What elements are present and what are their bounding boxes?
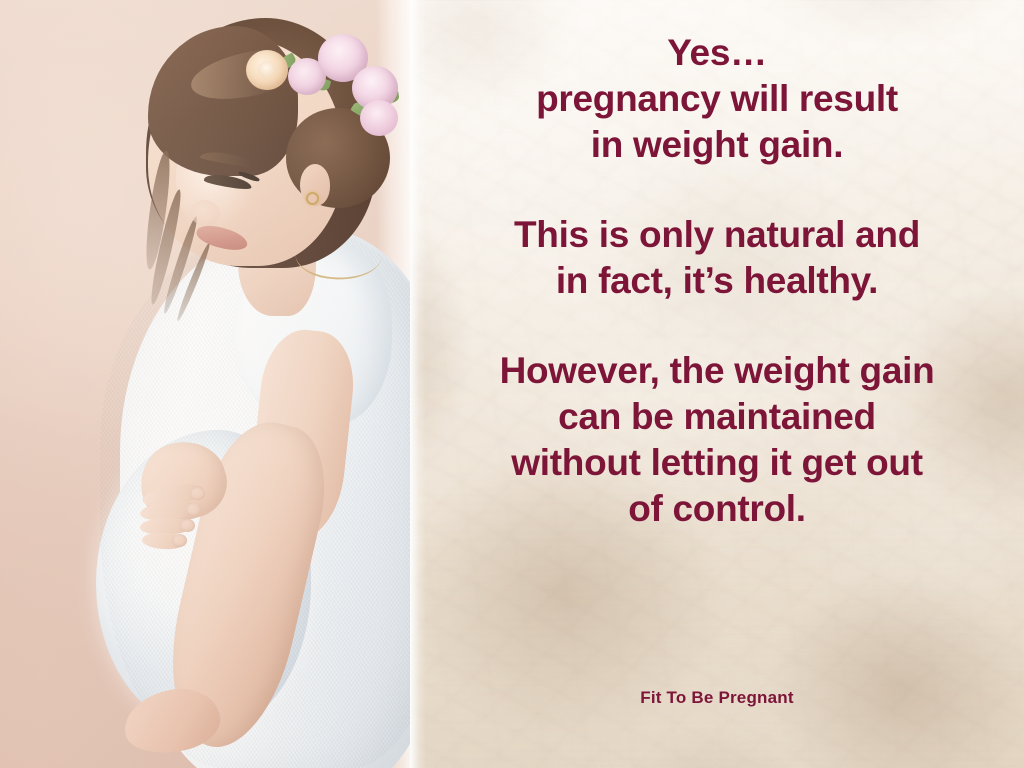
rose-flower-pink	[360, 100, 398, 136]
fingernail	[186, 503, 201, 516]
quote-line: in fact, it’s healthy.	[428, 258, 1006, 304]
quote-text-block: Yes… pregnancy will result in weight gai…	[410, 0, 1024, 532]
quote-line: Yes…	[428, 30, 1006, 76]
quote-line: can be maintained	[428, 394, 1006, 440]
quote-poster: Yes… pregnancy will result in weight gai…	[0, 0, 1024, 768]
fingernail	[190, 487, 205, 500]
text-pane: Yes… pregnancy will result in weight gai…	[410, 0, 1024, 768]
quote-paragraph-2: This is only natural and in fact, it’s h…	[428, 212, 1006, 304]
quote-line: This is only natural and	[428, 212, 1006, 258]
photo-pane	[0, 0, 410, 768]
attribution-text: Fit To Be Pregnant	[410, 688, 1024, 708]
quote-paragraph-1: Yes… pregnancy will result in weight gai…	[428, 30, 1006, 168]
rose-flower-core	[258, 61, 276, 78]
fingernail	[180, 519, 195, 532]
earring-icon	[306, 192, 319, 205]
quote-paragraph-3: However, the weight gain can be maintain…	[428, 348, 1006, 532]
quote-line: However, the weight gain	[428, 348, 1006, 394]
quote-line: pregnancy will result	[428, 76, 1006, 122]
quote-line: without letting it get out	[428, 440, 1006, 486]
quote-line: of control.	[428, 486, 1006, 532]
quote-line: in weight gain.	[428, 122, 1006, 168]
pregnant-woman-figure	[0, 0, 410, 768]
fingernail	[172, 534, 187, 547]
